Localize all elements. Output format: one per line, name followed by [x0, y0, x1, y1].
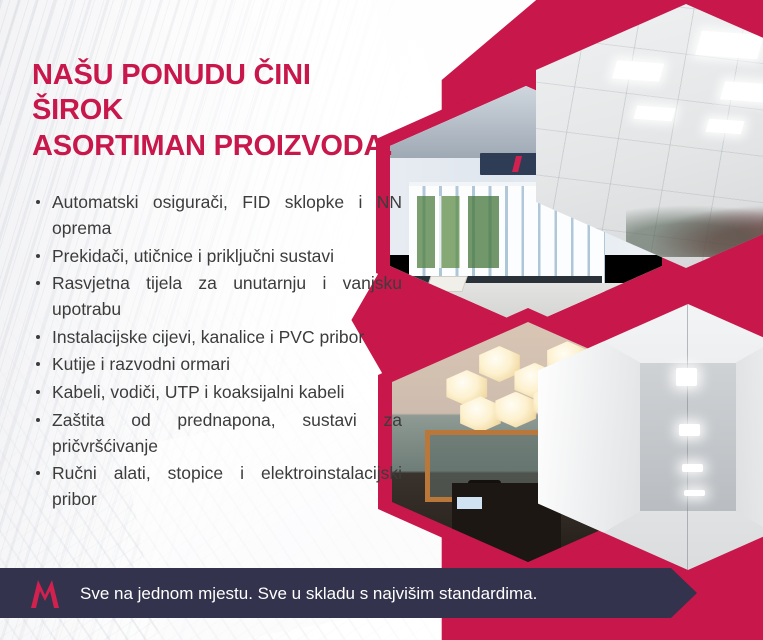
- pendant-lamp: [682, 464, 703, 472]
- list-item: Zaštita od prednapona, sustavi za pričvr…: [32, 408, 402, 459]
- list-item: Prekidači, utičnice i priključni sustavi: [32, 244, 402, 270]
- photo-posters: [417, 196, 499, 268]
- led-panel: [695, 31, 763, 59]
- photo-pendant-cord: [687, 304, 688, 570]
- page-title: NAŠU PONUDU ČINI ŠIROK ASORTIMAN PROIZVO…: [32, 58, 402, 164]
- list-item: Kabeli, vodiči, UTP i koaksijalni kabeli: [32, 380, 402, 406]
- photo-door-light: [457, 497, 481, 509]
- led-panel: [705, 119, 744, 135]
- list-item: Automatski osigurači, FID sklopke i NN o…: [32, 190, 402, 241]
- m-logo-icon: [28, 577, 62, 609]
- list-item: Instalacijske cijevi, kanalice i PVC pri…: [32, 325, 402, 351]
- list-item: Rasvjetna tijela za unutarnju i vanjsku …: [32, 271, 402, 322]
- headline-line-1: NAŠU PONUDU ČINI ŠIROK: [32, 59, 311, 126]
- content-column: NAŠU PONUDU ČINI ŠIROK ASORTIMAN PROIZVO…: [32, 58, 402, 515]
- list-item: Kutije i razvodni ormari: [32, 352, 402, 378]
- offer-list: Automatski osigurači, FID sklopke i NN o…: [32, 190, 402, 513]
- pendant-lamp: [676, 368, 697, 386]
- footer-tagline: Sve na jednom mjestu. Sve u skladu s naj…: [80, 585, 537, 602]
- photo-corridor-wall-right: [736, 304, 763, 570]
- pendant-lamp: [684, 490, 705, 496]
- footer-banner: Sve na jednom mjestu. Sve u skladu s naj…: [0, 568, 697, 618]
- led-panel: [720, 81, 763, 103]
- promo-poster: NAŠU PONUDU ČINI ŠIROK ASORTIMAN PROIZVO…: [0, 0, 763, 640]
- led-panel: [612, 60, 664, 82]
- headline-line-2: ASORTIMAN PROIZVODA:: [32, 130, 394, 162]
- pendant-lamp: [679, 424, 700, 436]
- led-panel: [634, 106, 676, 122]
- hex-lamp: [495, 392, 536, 428]
- hex-lamp: [479, 346, 520, 382]
- list-item: Ručni alati, stopice i elektroinstalacij…: [32, 461, 402, 512]
